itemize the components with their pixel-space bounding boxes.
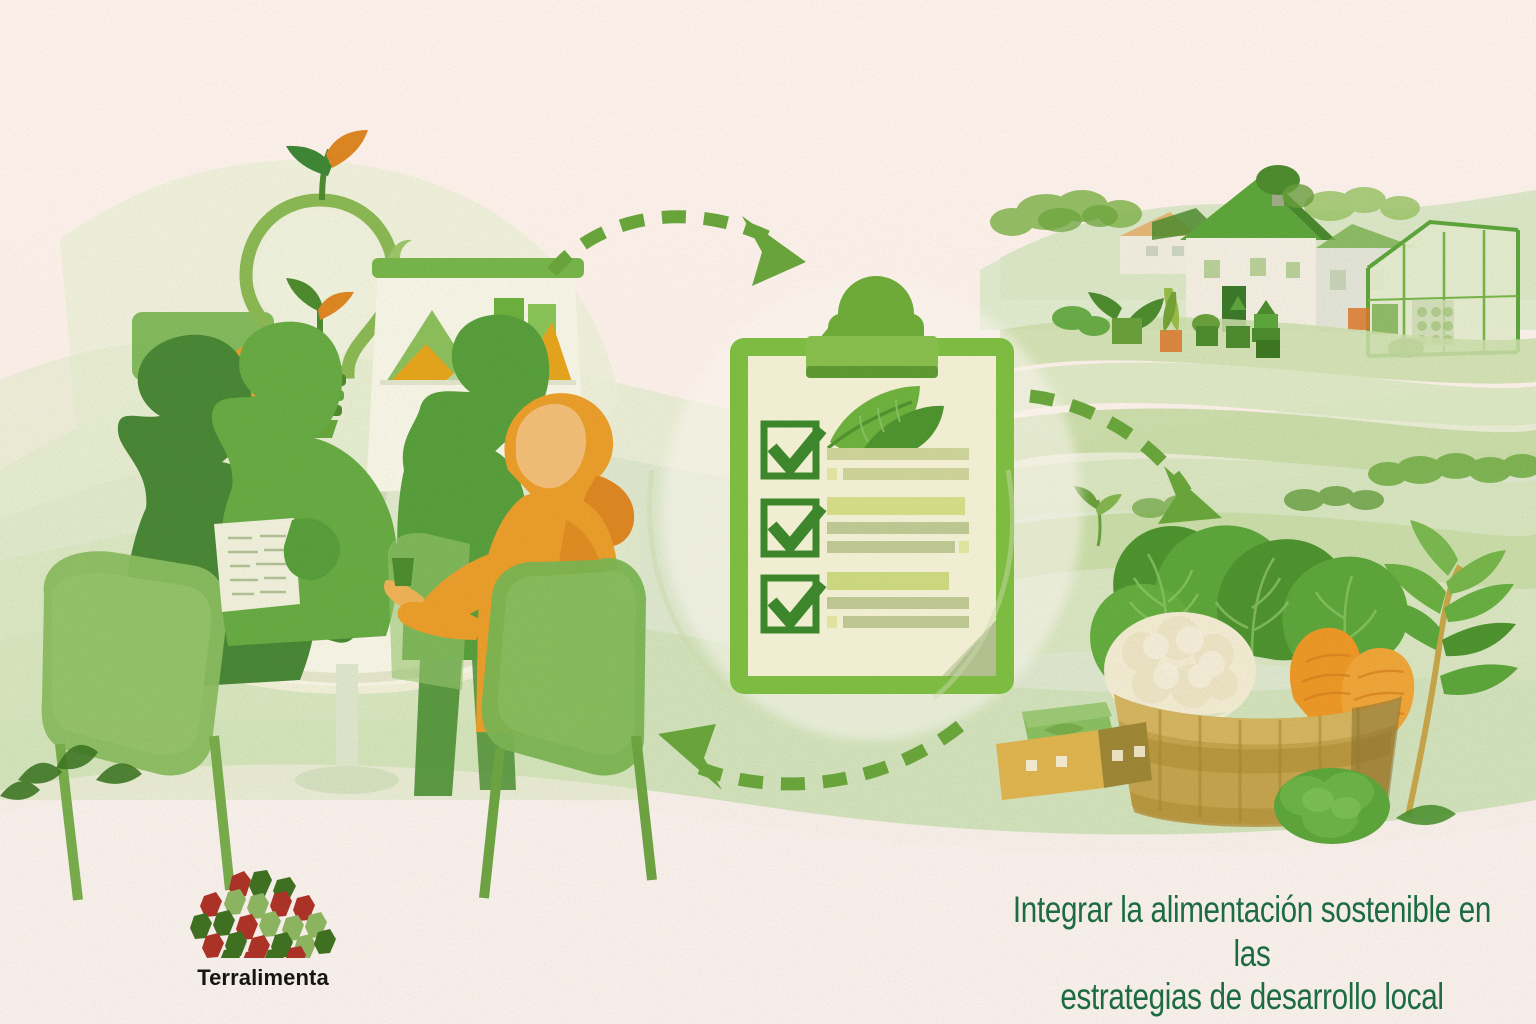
leaf-mosaic-icon [170, 866, 356, 958]
poster-caption: Integrar la alimentación sostenible en l… [1004, 888, 1500, 1024]
logo-wordmark: Terralimenta [170, 965, 356, 991]
poster-canvas: Terralimenta Integrar la alimentación so… [0, 0, 1536, 1024]
logo[interactable]: Terralimenta [170, 866, 356, 991]
